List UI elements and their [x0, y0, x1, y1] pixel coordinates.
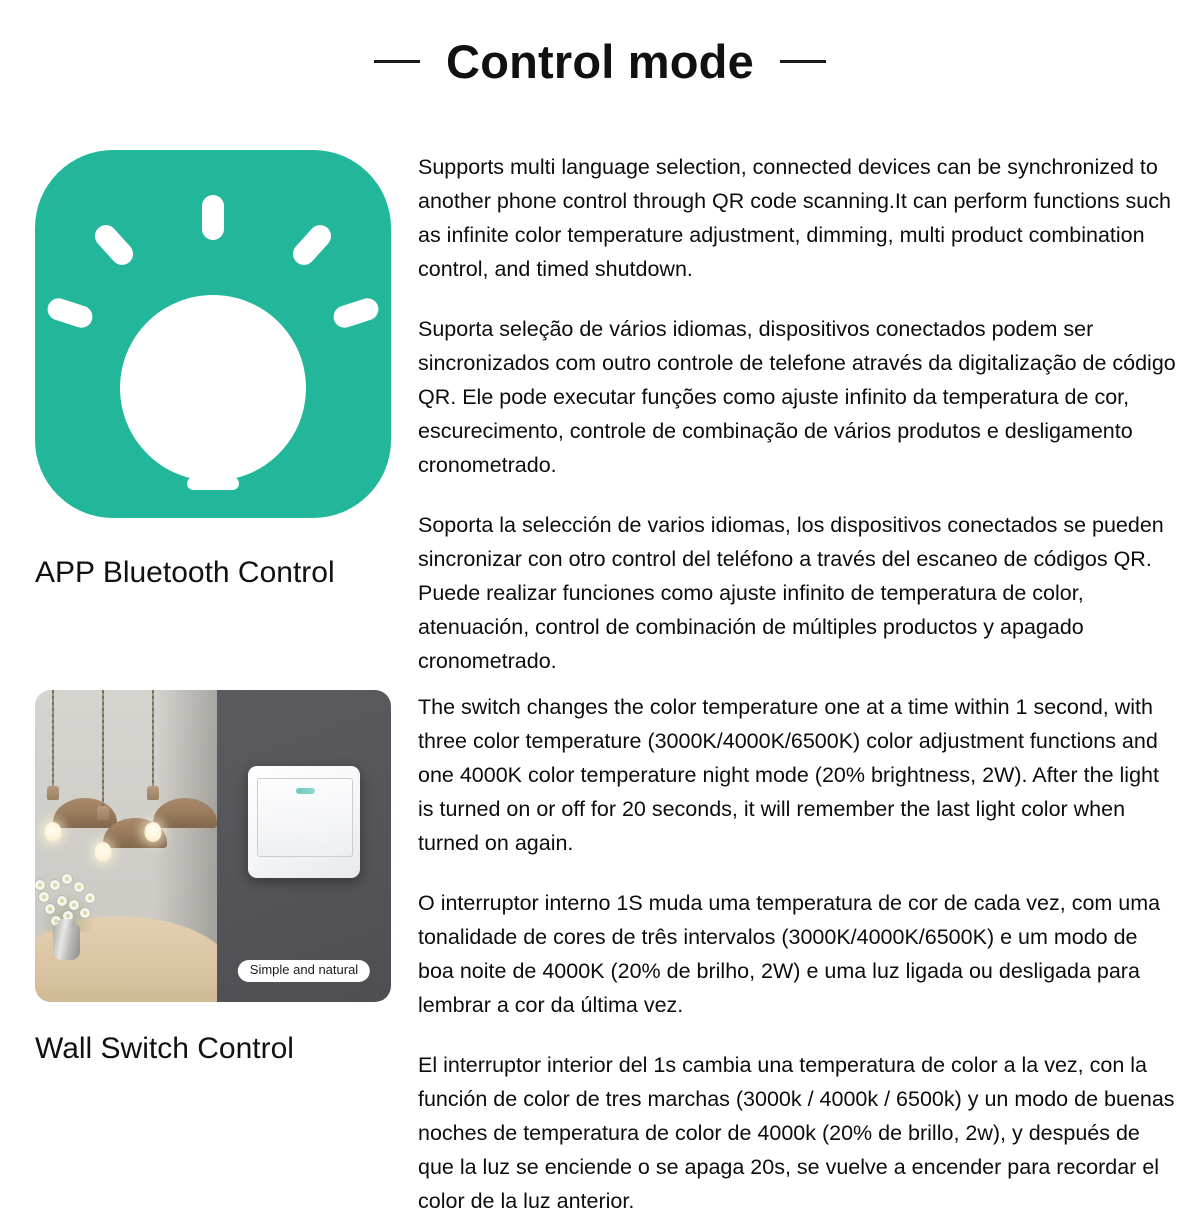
- flower: [57, 896, 67, 906]
- flower: [80, 908, 90, 918]
- section-app-bluetooth-control: APP Bluetooth Control Supports multi lan…: [0, 150, 1200, 650]
- wall-paragraph-pt: O interruptor interno 1S muda uma temper…: [418, 886, 1178, 1022]
- lamp-bulb: [95, 842, 112, 862]
- light-bulb-icon: [35, 150, 391, 518]
- bulb-ray-upper-left-icon: [90, 221, 137, 270]
- lamp-cord: [52, 690, 54, 788]
- page-title: Control mode: [446, 38, 754, 85]
- wall-paragraph-es: El interruptor interior del 1s cambia un…: [418, 1048, 1178, 1218]
- app-paragraph-es: Soporta la selección de varios idiomas, …: [418, 508, 1178, 678]
- bulb-ray-right-icon: [331, 295, 382, 330]
- lamp-cap: [147, 786, 159, 800]
- flower: [62, 874, 72, 884]
- room-scene: [35, 690, 217, 1002]
- flower: [50, 880, 60, 890]
- bulb-base-upper-icon: [170, 455, 256, 467]
- title-rule-right-icon: [780, 60, 826, 63]
- flower: [74, 882, 84, 892]
- lamp-bulb: [145, 822, 162, 842]
- bulb-ray-upper-right-icon: [288, 221, 335, 270]
- app-paragraph-pt: Suporta seleção de vários idiomas, dispo…: [418, 312, 1178, 482]
- flower: [45, 904, 55, 914]
- app-media-column: APP Bluetooth Control: [35, 150, 391, 589]
- wall-paragraph-en: The switch changes the color temperature…: [418, 690, 1178, 860]
- flower: [35, 880, 45, 890]
- wall-switch-photo: Simple and natural: [35, 690, 391, 1002]
- bulb-base-lower-icon: [187, 477, 239, 490]
- wall-switch-control-caption: Wall Switch Control: [35, 1032, 391, 1065]
- app-text-column: Supports multi language selection, conne…: [418, 150, 1178, 678]
- bulb-ray-left-icon: [45, 295, 96, 330]
- wall-switch-plate[interactable]: [248, 766, 360, 878]
- bulb-globe-icon: [120, 295, 306, 481]
- lamp-bulb: [45, 822, 62, 842]
- lamp-cord: [102, 690, 104, 808]
- flower: [39, 892, 49, 902]
- app-paragraph-en: Supports multi language selection, conne…: [418, 150, 1178, 286]
- switch-panel-backdrop: Simple and natural: [217, 690, 391, 1002]
- section-wall-switch-control: Simple and natural Wall Switch Control T…: [0, 690, 1200, 1190]
- simple-and-natural-badge: Simple and natural: [238, 960, 370, 982]
- flower: [85, 893, 95, 903]
- lamp-cap: [97, 806, 109, 820]
- switch-indicator-led-icon: [296, 788, 315, 794]
- bulb-ray-top-icon: [202, 195, 224, 240]
- app-bluetooth-control-caption: APP Bluetooth Control: [35, 556, 391, 589]
- switch-rocker[interactable]: [257, 778, 353, 857]
- lamp-cord: [152, 690, 154, 788]
- title-rule-left-icon: [374, 60, 420, 63]
- lamp-cap: [47, 786, 59, 800]
- wall-text-column: The switch changes the color temperature…: [418, 690, 1178, 1218]
- metal-vase: [53, 924, 80, 960]
- flower: [69, 900, 79, 910]
- wall-media-column: Simple and natural Wall Switch Control: [35, 690, 391, 1065]
- page-header: Control mode: [0, 22, 1200, 100]
